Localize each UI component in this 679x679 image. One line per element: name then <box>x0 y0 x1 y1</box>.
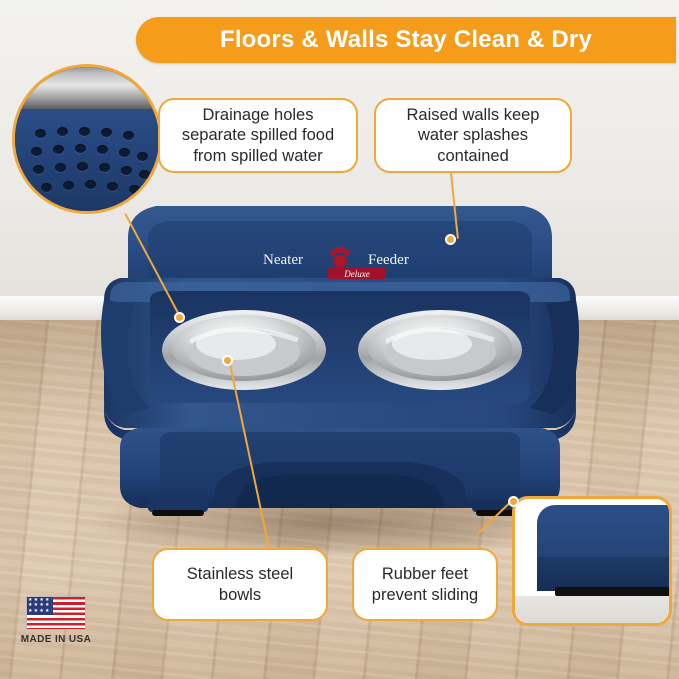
leader-dot-walls <box>445 234 456 245</box>
made-in-usa-badge: ★★★★★★ ★★★★★★ ★★★★★★ MADE IN USA <box>18 596 94 662</box>
callout-drainage-text: Drainage holes separate spilled food fro… <box>170 105 346 165</box>
closeup-rubber-foot <box>555 587 672 596</box>
closeup-floor <box>515 596 672 626</box>
callout-stainless-bowls: Stainless steel bowls <box>152 548 328 621</box>
callout-feet-text: Rubber feet prevent sliding <box>364 564 486 604</box>
headline-banner: Floors & Walls Stay Clean & Dry <box>136 17 676 63</box>
made-in-usa-text: MADE IN USA <box>18 634 94 645</box>
callout-rubber-feet: Rubber feet prevent sliding <box>352 548 498 621</box>
closeup-bowl-rim <box>12 64 162 111</box>
usa-flag-icon: ★★★★★★ ★★★★★★ ★★★★★★ <box>26 596 86 630</box>
headline-text: Floors & Walls Stay Clean & Dry <box>220 26 592 54</box>
closeup-hole-grid <box>31 127 153 201</box>
drainage-holes-closeup <box>12 64 162 214</box>
rubber-feet-closeup <box>512 496 672 626</box>
leader-dot-feet <box>508 496 519 507</box>
callout-bowls-text: Stainless steel bowls <box>164 564 316 604</box>
leader-dot-drainage <box>174 312 185 323</box>
leader-dot-bowls <box>222 355 233 366</box>
flag-stars: ★★★★★★ ★★★★★★ ★★★★★★ <box>28 598 52 614</box>
callout-raised-walls: Raised walls keep water splashes contain… <box>374 98 572 173</box>
closeup-base-notch <box>537 557 672 591</box>
product-infographic: Neater Feeder Deluxe Floors & Walls Stay… <box>0 0 679 679</box>
callout-drainage-holes: Drainage holes separate spilled food fro… <box>158 98 358 173</box>
callout-walls-text: Raised walls keep water splashes contain… <box>386 105 560 165</box>
